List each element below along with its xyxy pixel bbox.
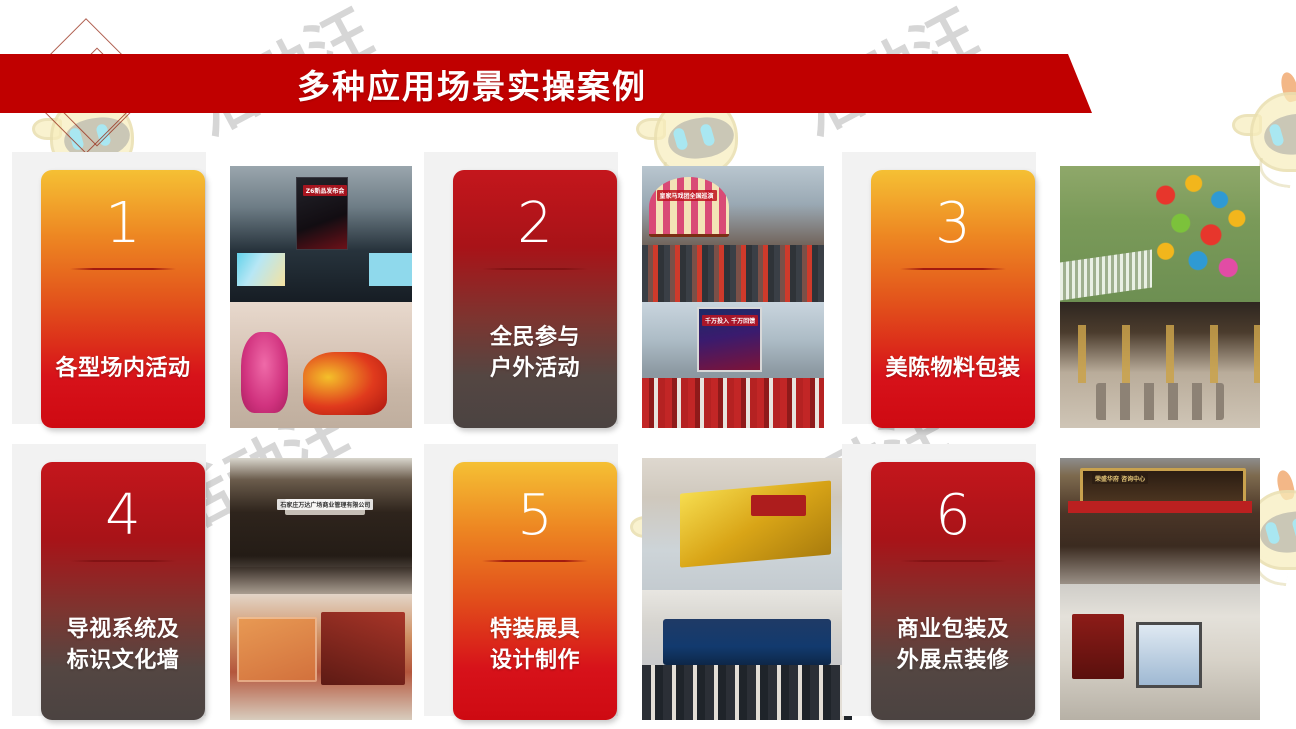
photo-stack: 荣盛华府 咨询中心 [1060,458,1260,720]
photo-caption: 千万投入 千万回馈 [702,315,758,326]
photo-gold-themed-booth[interactable] [642,458,852,590]
photo-culture-wall-exhibit[interactable] [230,594,412,720]
card-label-line2: 外展点装修 [897,645,1010,676]
card-number: 1 [105,196,141,252]
photo-caption: Z6新品发布会 [303,185,348,196]
case-card-6[interactable]: 6 商业包装及 外展点装修 [871,462,1035,720]
photo-sales-center-interior[interactable] [1060,584,1260,720]
card-label: 美陈物料包装 [885,353,1020,384]
case-card-2[interactable]: 2 全民参与 户外活动 [453,170,617,428]
case-card-1[interactable]: 1 各型场内活动 [41,170,205,428]
card-divider-rule [482,268,588,270]
card-label: 商业包装及 外展点装修 [897,614,1010,676]
photo-outdoor-plaza-crowd[interactable]: 千万投入 千万回馈 [642,302,824,428]
case-cell-3: 3 美陈物料包装 [842,148,1264,435]
case-card-5[interactable]: 5 特装展具 设计制作 [453,462,617,720]
photo-storefront-signage[interactable]: 荣盛华府 咨询中心 [1060,458,1260,584]
card-number: 3 [935,196,971,252]
card-label-line2: 户外活动 [490,353,580,384]
card-label: 导视系统及 标识文化墙 [67,614,180,676]
photo-mall-stage-event[interactable]: Z6新品发布会 [230,166,412,302]
photo-stack: Z6新品发布会 [230,166,412,428]
card-label-line1: 各型场内活动 [55,356,190,381]
card-number: 6 [935,488,971,544]
photo-caption: 荣盛华府 咨询中心 [1092,473,1148,484]
photo-stack: 石家庄万达广场商业管理有限公司 [230,458,412,720]
photo-stack: 皇家马戏团全国巡演 千万投入 千万回馈 [642,166,824,428]
card-divider-rule [900,560,1006,562]
photo-caption: 皇家马戏团全国巡演 [657,190,717,201]
card-label: 各型场内活动 [55,353,190,384]
photo-lion-dance[interactable] [230,302,412,428]
card-divider-rule [70,268,176,270]
case-grid: 1 各型场内活动 Z6新品发布会 2 全民参与 户外活动 [0,148,1296,729]
case-cell-4: 4 导视系统及 标识文化墙 石家庄万达广场商业管理有限公司 [12,440,434,727]
photo-mall-corridor-lounge[interactable] [1060,302,1260,428]
case-card-4[interactable]: 4 导视系统及 标识文化墙 [41,462,205,720]
photo-flower-ball-display[interactable] [1060,166,1260,302]
card-label-line2: 设计制作 [490,645,580,676]
card-number: 4 [105,488,141,544]
card-number: 5 [517,488,553,544]
photo-stack [1060,166,1260,428]
card-label-line1: 导视系统及 [67,617,180,642]
photo-caption: 石家庄万达广场商业管理有限公司 [277,499,373,510]
card-label-line2: 标识文化墙 [67,645,180,676]
card-label-line1: 特装展具 [490,617,580,642]
card-divider-rule [900,268,1006,270]
photo-reception-signage-wall[interactable]: 石家庄万达广场商业管理有限公司 [230,458,412,594]
case-cell-5: 5 特装展具 设计制作 [424,440,846,727]
card-divider-rule [482,560,588,562]
card-divider-rule [70,560,176,562]
photo-circus-tent-crowd[interactable]: 皇家马戏团全国巡演 [642,166,824,302]
card-label-line1: 全民参与 [490,325,580,350]
case-cell-6: 6 商业包装及 外展点装修 荣盛华府 咨询中心 [842,440,1264,727]
case-cell-2: 2 全民参与 户外活动 皇家马戏团全国巡演 千万投入 千万回馈 [424,148,846,435]
card-label-line1: 商业包装及 [897,617,1010,642]
case-cell-1: 1 各型场内活动 Z6新品发布会 [12,148,434,435]
card-label: 特装展具 设计制作 [490,614,580,676]
case-card-3[interactable]: 3 美陈物料包装 [871,170,1035,428]
title-banner: 多种应用场景实操案例 [0,54,1092,113]
card-label-line1: 美陈物料包装 [885,356,1020,381]
page-title: 多种应用场景实操案例 [297,60,647,108]
photo-stack [642,458,852,720]
photo-property-sales-booth[interactable] [642,590,852,720]
card-number: 2 [517,196,553,252]
card-label: 全民参与 户外活动 [490,322,580,384]
